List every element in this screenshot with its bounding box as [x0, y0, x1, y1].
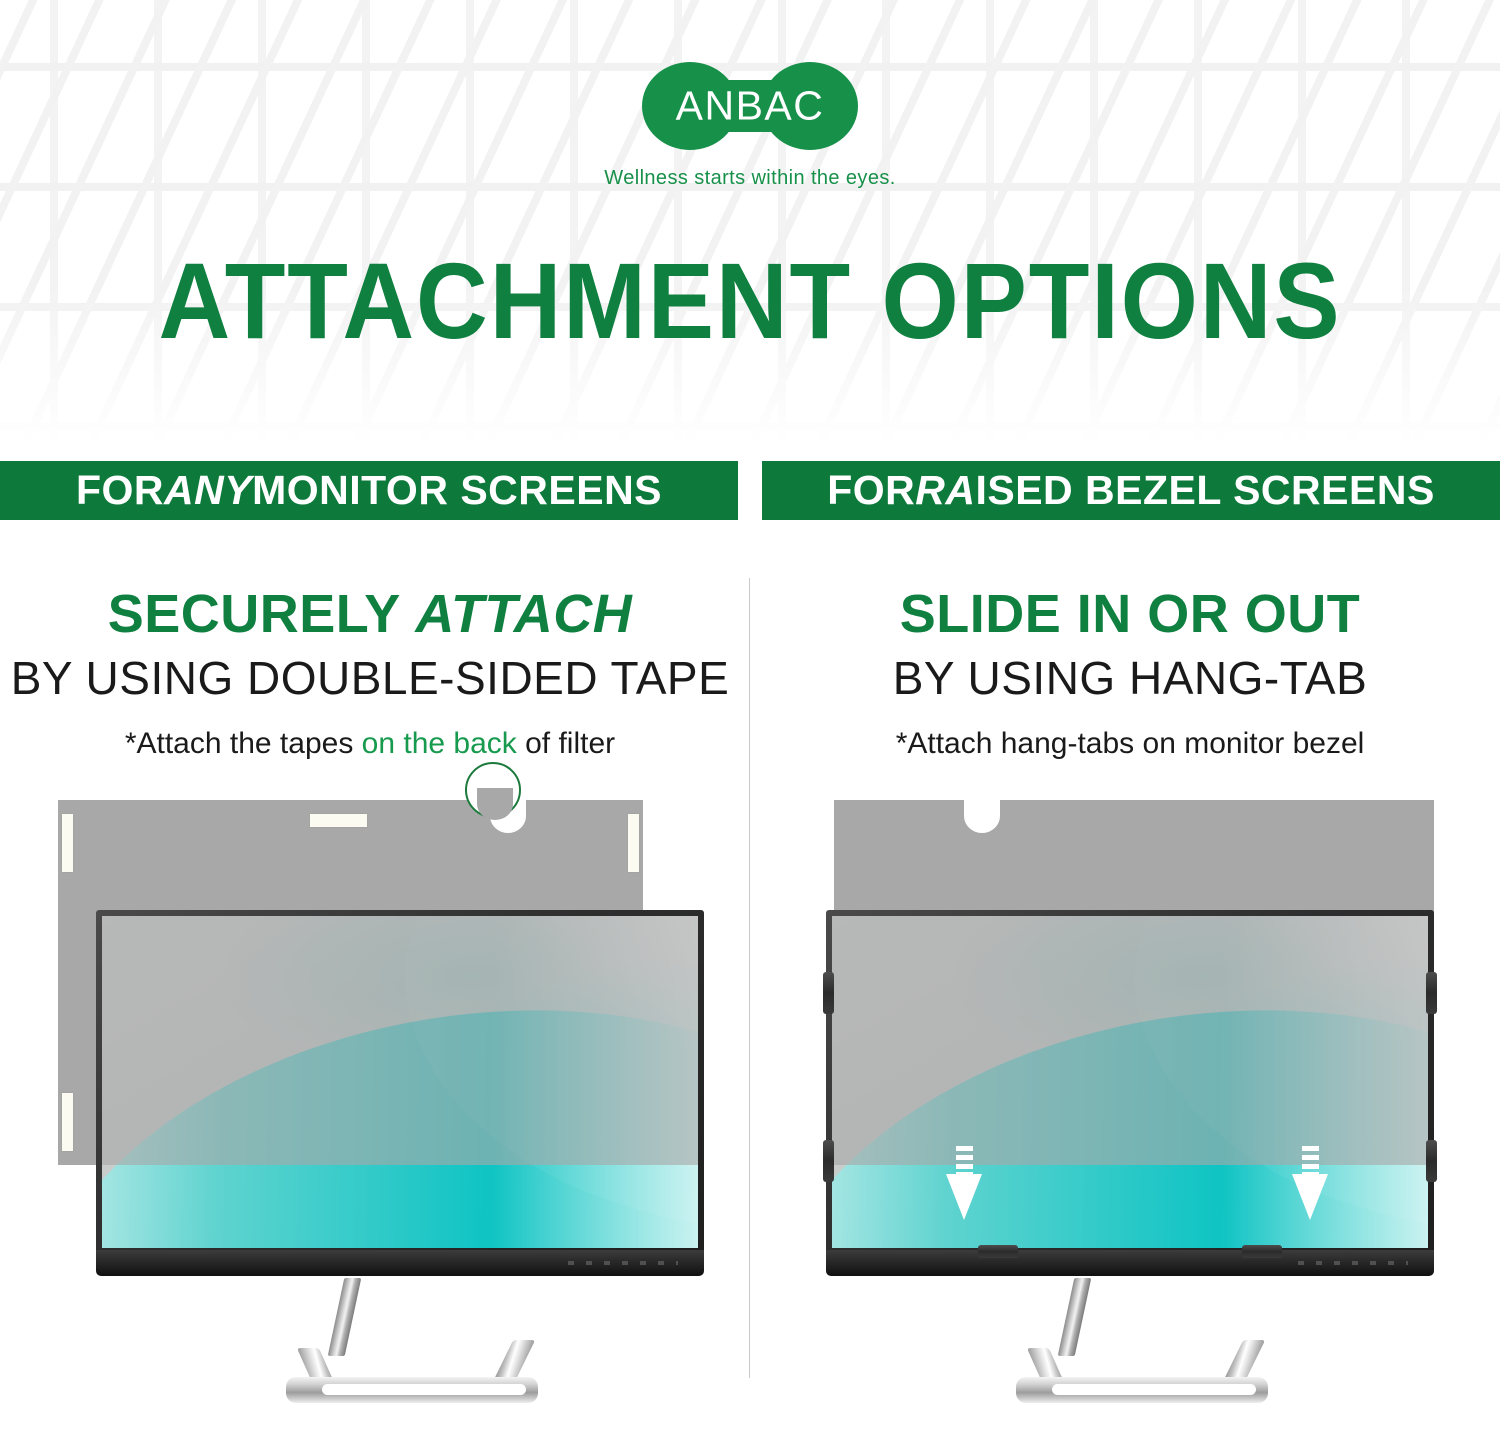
- left-heading-green-prefix: SECURELY: [108, 584, 416, 644]
- arrow-stripes-icon: [956, 1146, 973, 1174]
- slide-down-arrow-left: [946, 1146, 982, 1220]
- hang-tab-left-lower: [823, 1140, 834, 1182]
- banner-right-prefix: FOR: [827, 467, 915, 514]
- monitor-chin: [96, 1250, 704, 1276]
- left-note-suffix: of filter: [517, 727, 615, 760]
- stand-neck-right: [1058, 1278, 1092, 1356]
- page-title: ATTACHMENT OPTIONS: [60, 238, 1440, 363]
- banner-left: FOR ANY MONITOR SCREENS: [0, 461, 738, 520]
- arrow-head-icon: [946, 1174, 982, 1220]
- stand-base-right: [1016, 1377, 1268, 1403]
- banner-right: FOR RAISED BEZEL SCREENS: [762, 461, 1500, 520]
- right-heading-green-prefix: SLIDE IN OR OUT: [900, 584, 1361, 644]
- monitor-screen-right: [832, 916, 1428, 1248]
- left-heading-green: SECURELY ATTACH: [0, 583, 740, 645]
- banner-left-prefix: FOR: [76, 467, 164, 514]
- left-heading-green-emphasis: ATTACH: [415, 584, 632, 644]
- right-column-heading-group: SLIDE IN OR OUT BY USING HANG-TAB *Attac…: [760, 583, 1500, 761]
- monitor-bezel-right: [826, 910, 1434, 1254]
- banner-left-emphasis: ANY: [164, 467, 252, 514]
- left-column-heading-group: SECURELY ATTACH BY USING DOUBLE-SIDED TA…: [0, 583, 740, 761]
- stand-neck: [328, 1278, 362, 1356]
- banner-left-suffix: MONITOR SCREENS: [252, 467, 662, 514]
- highlight-ring-icon: [465, 762, 521, 818]
- tape-strip-top-right: [628, 814, 639, 872]
- monitor-left: [96, 910, 704, 1254]
- monitor-stand-right: [1004, 1278, 1284, 1403]
- monitor-stand-left: [274, 1278, 554, 1403]
- infographic-page: ANBAC Wellness starts within the eyes. A…: [0, 0, 1500, 1437]
- monitor-control-dots-icon-right: [1298, 1261, 1408, 1265]
- arrow-stripes-icon-right: [1302, 1146, 1319, 1174]
- left-heading-black: BY USING DOUBLE-SIDED TAPE: [0, 651, 740, 705]
- illustration-hangtab-attachment: [812, 786, 1472, 1386]
- filter-overlay-on-screen-right: [832, 916, 1428, 1165]
- right-note-prefix: *Attach hang-tabs on monitor bezel: [896, 727, 1365, 760]
- monitor-control-dots-icon: [568, 1261, 678, 1265]
- illustration-tape-attachment: [44, 786, 704, 1386]
- banner-right-suffix: ISED BEZEL SCREENS: [975, 467, 1434, 514]
- highlight-ring-notch-fill: [477, 788, 513, 820]
- monitor-bezel: [96, 910, 704, 1254]
- right-heading-note: *Attach hang-tabs on monitor bezel: [760, 727, 1500, 761]
- brand-logo-block: ANBAC Wellness starts within the eyes.: [0, 62, 1500, 190]
- tape-strip-top-left: [62, 814, 73, 872]
- stand-base-inner-right: [1052, 1384, 1256, 1395]
- column-divider: [749, 578, 750, 1378]
- left-note-prefix: *Attach the tapes: [125, 727, 362, 760]
- brand-tagline: Wellness starts within the eyes.: [0, 167, 1500, 190]
- hang-tab-right-upper: [1426, 972, 1437, 1014]
- logo-wordmark: ANBAC: [642, 83, 858, 130]
- left-heading-note: *Attach the tapes on the back of filter: [0, 727, 740, 761]
- stand-base-inner: [322, 1384, 526, 1395]
- tape-strip-top-center: [310, 814, 367, 827]
- hang-tab-bottom-right: [1242, 1245, 1282, 1258]
- monitor-chin-right: [826, 1250, 1434, 1276]
- stand-base: [286, 1377, 538, 1403]
- tape-strip-bottom-left: [62, 1093, 73, 1151]
- hang-tab-bottom-left: [978, 1245, 1018, 1258]
- logo-blob-shape: ANBAC: [642, 62, 858, 150]
- slide-down-arrow-right: [1292, 1146, 1328, 1220]
- right-heading-green: SLIDE IN OR OUT: [760, 583, 1500, 645]
- filter-overlay-on-screen: [102, 916, 698, 1165]
- monitor-screen: [102, 916, 698, 1248]
- hang-tab-right-lower: [1426, 1140, 1437, 1182]
- banner-right-emphasis: RA: [915, 467, 975, 514]
- hang-tab-left-upper: [823, 972, 834, 1014]
- monitor-right: [826, 910, 1434, 1254]
- right-heading-black: BY USING HANG-TAB: [760, 651, 1500, 705]
- left-note-highlight: on the back: [362, 727, 517, 760]
- webcam-notch-cutout-right: [964, 799, 1000, 833]
- arrow-head-icon-right: [1292, 1174, 1328, 1220]
